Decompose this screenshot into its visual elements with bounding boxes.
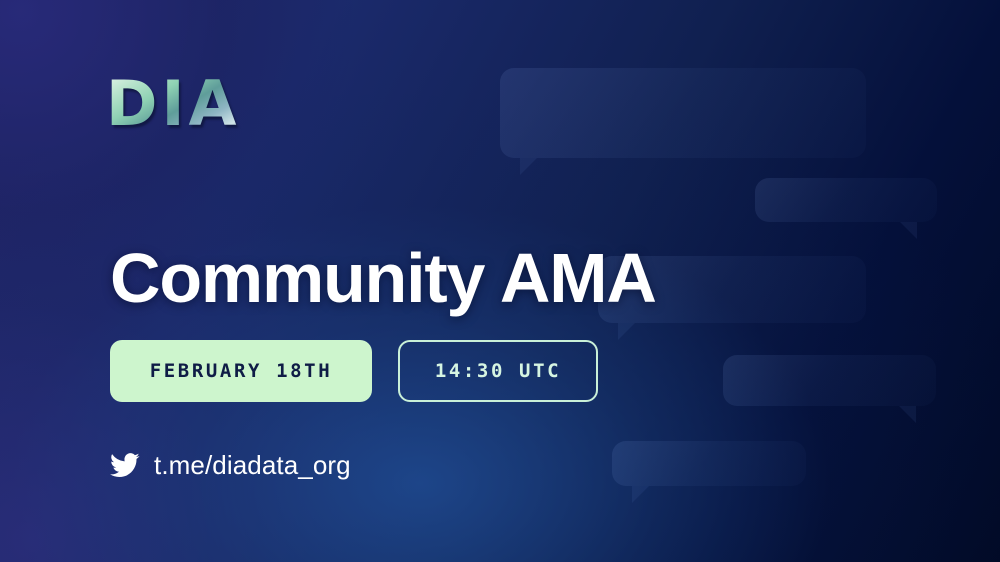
event-time-badge: 14:30 UTC bbox=[398, 340, 598, 402]
social-link[interactable]: t.me/diadata_org bbox=[110, 450, 351, 481]
page-title: Community AMA bbox=[110, 243, 656, 313]
promo-banner: DIA Community AMA FEBRUARY 18TH 14:30 UT… bbox=[0, 0, 1000, 562]
event-details-row: FEBRUARY 18TH 14:30 UTC bbox=[110, 340, 598, 402]
dia-logo: DIA bbox=[106, 73, 241, 135]
content-column: DIA Community AMA FEBRUARY 18TH 14:30 UT… bbox=[106, 0, 806, 562]
event-date-badge: FEBRUARY 18TH bbox=[110, 340, 372, 402]
twitter-bird-icon bbox=[110, 453, 140, 478]
social-handle-text: t.me/diadata_org bbox=[154, 450, 351, 481]
